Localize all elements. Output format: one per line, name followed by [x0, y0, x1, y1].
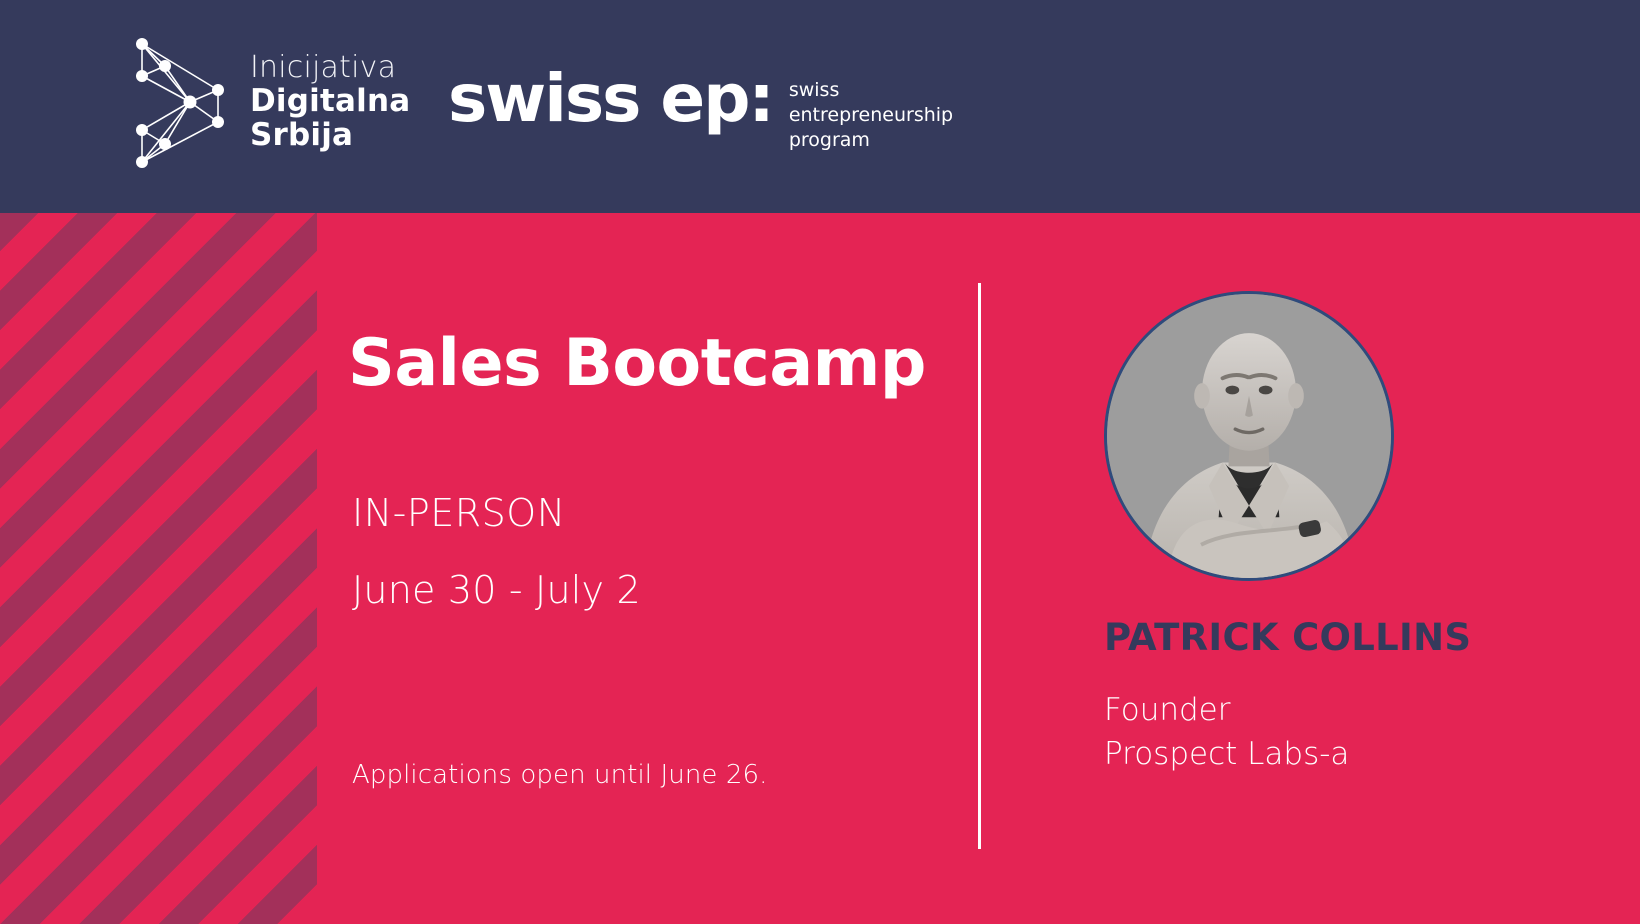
event-format: IN-PERSON	[352, 491, 566, 535]
tagline-line-3: program	[789, 129, 870, 151]
speaker-avatar	[1104, 291, 1394, 581]
logo-line-digitalna: Digitalna	[250, 84, 410, 118]
swiss-ep-logo: swiss ep: swiss entrepreneurship program	[448, 66, 953, 153]
logo-line-srbija: Srbija	[250, 118, 410, 152]
logo-line-inicijativa: Inicijativa	[250, 51, 410, 84]
tagline-line-2: entrepreneurship	[789, 104, 953, 126]
digitalna-srbija-logo: Inicijativa Digitalna Srbija	[128, 34, 410, 169]
swiss-ep-wordmark: swiss ep:	[448, 66, 773, 132]
speaker-organization: Prospect Labs-a	[1104, 736, 1349, 772]
poster-body: Sales Bootcamp IN-PERSON June 30 - July …	[0, 213, 1640, 924]
header-bar: Inicijativa Digitalna Srbija swiss ep: s…	[0, 0, 1640, 213]
event-announcement-poster: Inicijativa Digitalna Srbija swiss ep: s…	[0, 0, 1640, 924]
tagline-line-1: swiss	[789, 79, 840, 101]
swiss-ep-tagline: swiss entrepreneurship program	[789, 78, 953, 153]
speaker-role: Founder	[1104, 692, 1230, 728]
application-deadline: Applications open until June 26.	[352, 760, 768, 790]
event-title: Sales Bootcamp	[348, 331, 926, 396]
diagonal-stripe-pattern	[0, 213, 317, 924]
digitalna-srbija-wordmark: Inicijativa Digitalna Srbija	[250, 51, 410, 152]
vertical-divider	[978, 283, 981, 849]
network-graph-icon	[128, 34, 232, 169]
speaker-name: PATRICK COLLINS	[1104, 616, 1471, 659]
event-dates: June 30 - July 2	[352, 568, 641, 612]
